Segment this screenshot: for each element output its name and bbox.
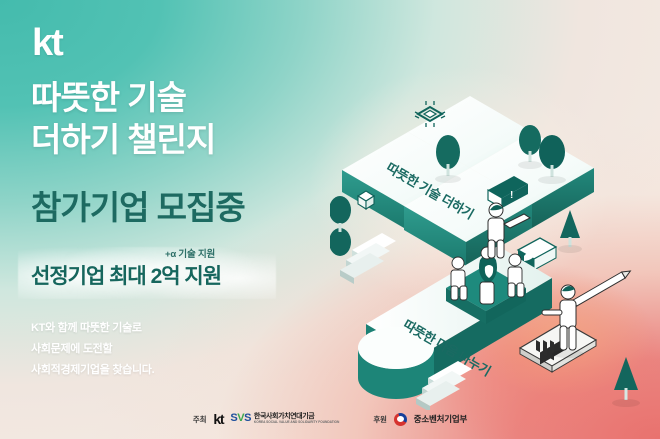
footer-host-group: 주최 kt SVS 한국사회가치연대기금 KOREA SOCIAL VALUE … [193, 412, 339, 426]
government-taegeuk-icon [394, 413, 407, 426]
headline-line-2: 더하기 챌린지 [31, 119, 215, 161]
body-line-1: KT와 함께 따뜻한 기술로 [31, 318, 154, 339]
footer: 주최 kt SVS 한국사회가치연대기금 KOREA SOCIAL VALUE … [0, 399, 660, 439]
svs-name-en: KOREA SOCIAL VALUE AND SOLIDARITY FOUNDA… [254, 421, 339, 424]
sponsor-name: 중소벤처기업부 [414, 413, 467, 425]
award-note: +α 기술 지원 [165, 249, 215, 261]
kt-logo: kt [32, 24, 62, 62]
svs-mark-right: S [244, 412, 251, 424]
svs-text: 한국사회가치연대기금 KOREA SOCIAL VALUE AND SOLIDA… [254, 413, 339, 424]
headline-line-1: 따뜻한 기술 [31, 77, 215, 119]
body-line-3: 사회적경제기업을 찾습니다. [31, 360, 154, 381]
svg-text:!: ! [510, 190, 513, 201]
footer-kt-logo: kt [213, 412, 223, 426]
isometric-illustration: ! [330, 60, 660, 410]
headline: 따뜻한 기술 더하기 챌린지 [31, 77, 215, 161]
sponsor-label: 후원 [373, 414, 386, 425]
svs-name-kr: 한국사회가치연대기금 [254, 413, 339, 420]
svs-mark: SVS [230, 413, 251, 424]
body-line-2: 사회문제에 도전할 [31, 339, 154, 360]
footer-sponsor-group: 후원 중소벤처기업부 [373, 413, 467, 426]
host-label: 주최 [193, 414, 206, 425]
promo-banner: ! [0, 0, 660, 439]
headline-accent: 참가기업 모집중 [31, 188, 245, 228]
body-copy: KT와 함께 따뜻한 기술로 사회문제에 도전할 사회적경제기업을 찾습니다. [31, 318, 154, 381]
award-text: 선정기업 최대 2억 지원 [31, 264, 221, 290]
footer-svs-logo: SVS 한국사회가치연대기금 KOREA SOCIAL VALUE AND SO… [230, 413, 339, 424]
